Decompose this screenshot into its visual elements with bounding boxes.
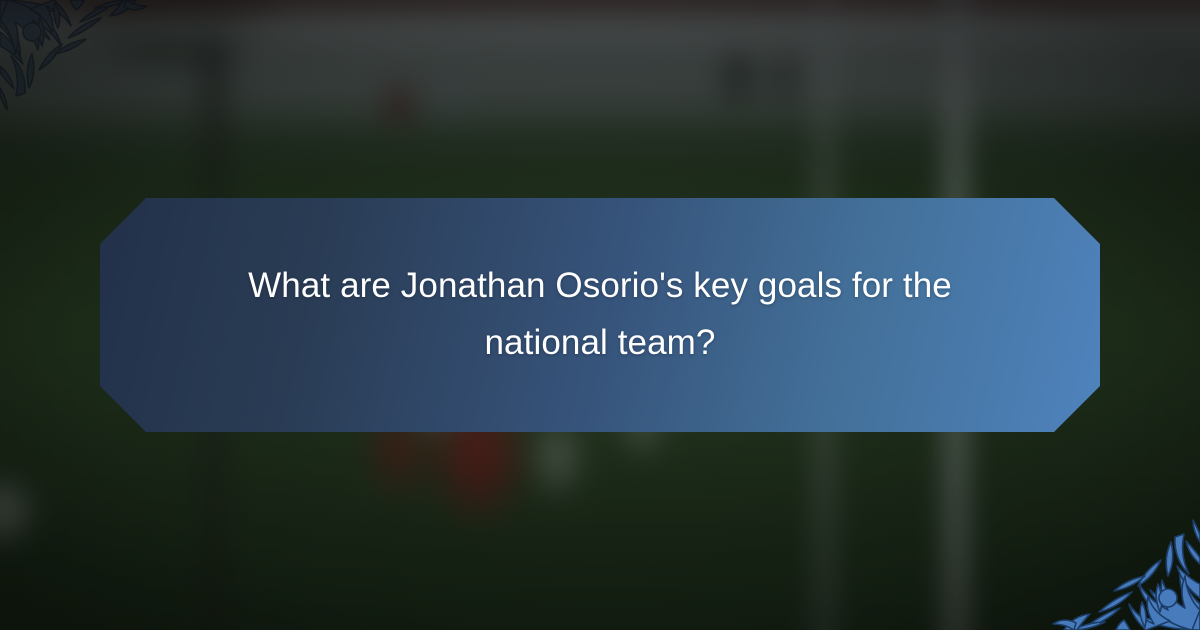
headline-banner: What are Jonathan Osorio's key goals for… xyxy=(100,198,1100,432)
page-title: What are Jonathan Osorio's key goals for… xyxy=(200,258,1000,371)
share-card-canvas: What are Jonathan Osorio's key goals for… xyxy=(0,0,1200,630)
